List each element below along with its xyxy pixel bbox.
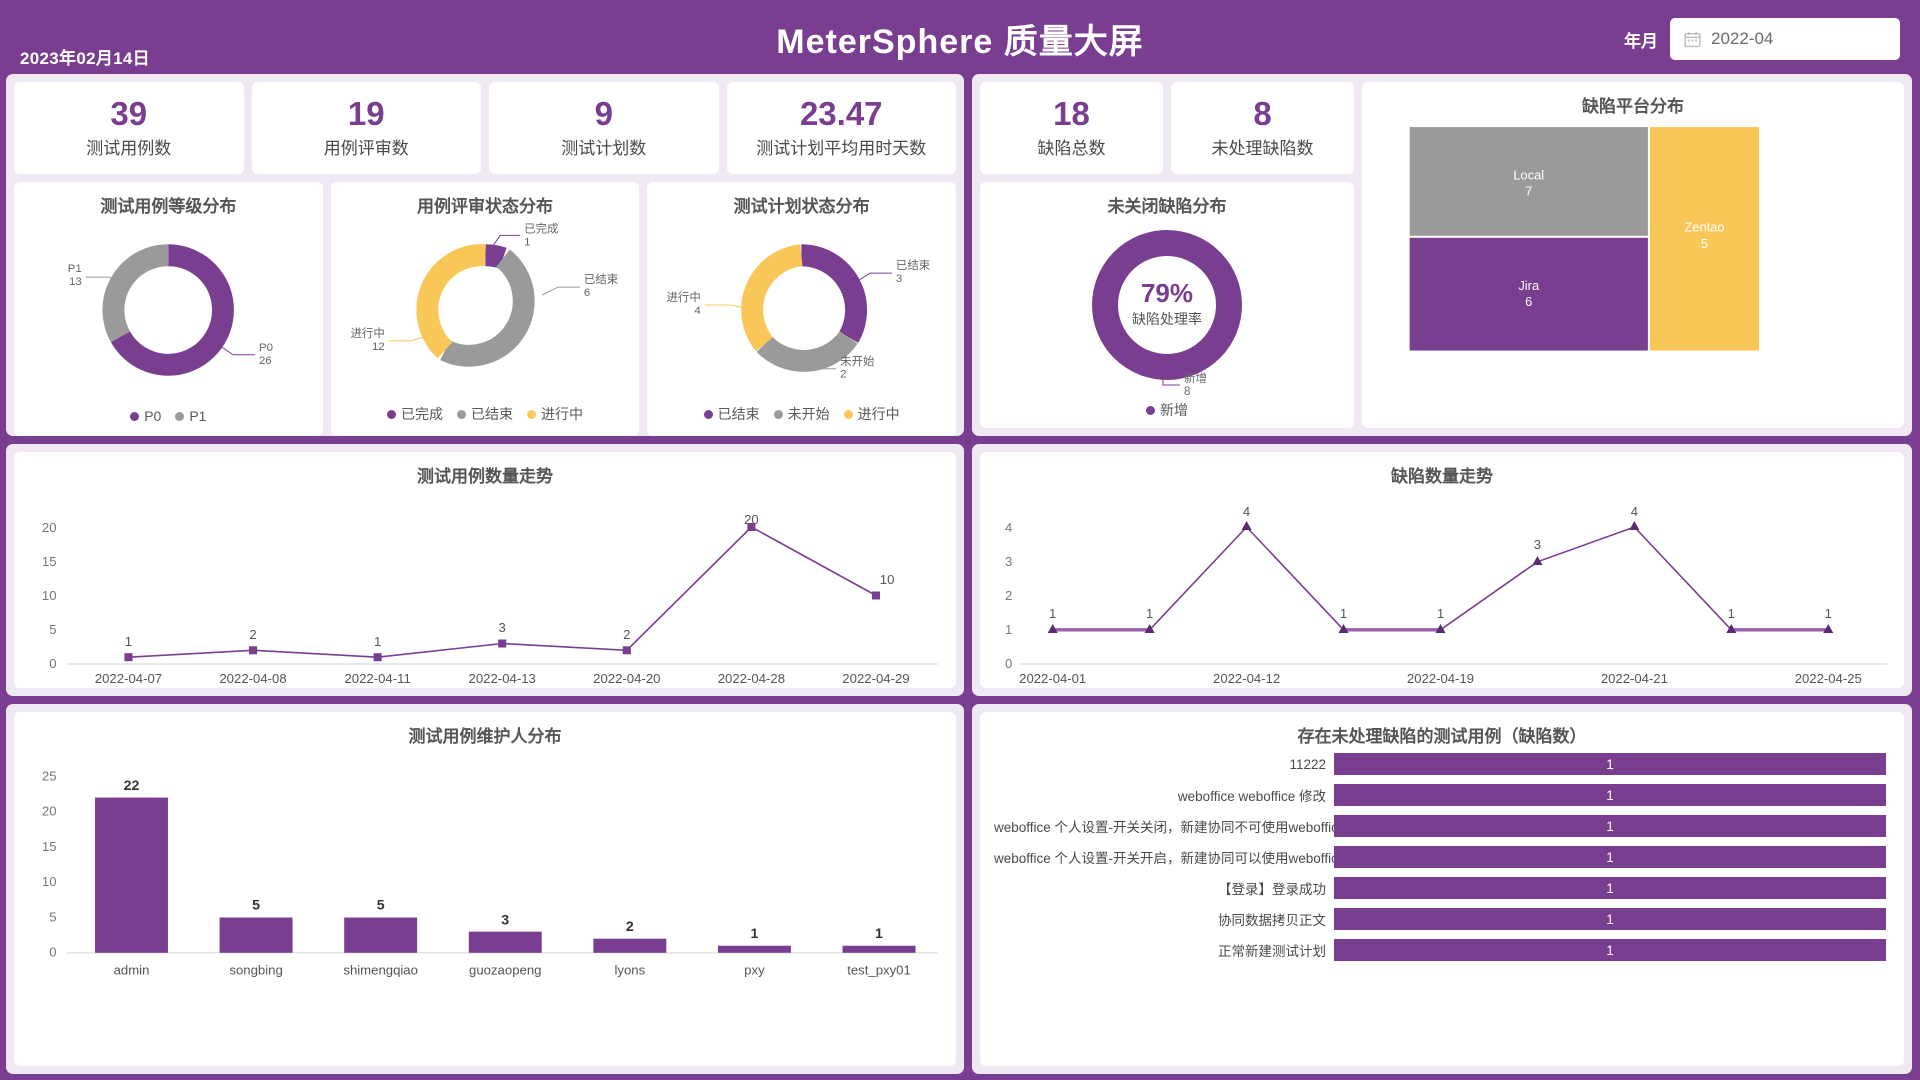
x-tick-label: guozaopeng [469, 963, 541, 978]
point-value: 1 [1728, 606, 1735, 621]
kpi-value: 9 [595, 97, 613, 130]
point-value: 1 [1146, 606, 1153, 621]
line-chart-graphic: 4 3 2 1 0 [980, 487, 1904, 687]
list-item[interactable]: 协同数据拷贝正文 1 [994, 906, 1886, 932]
y-tick-label: 10 [42, 874, 57, 889]
donut-slice-inprogress [752, 255, 801, 344]
callout-value: 8 [1184, 386, 1190, 398]
legend-dot-icon [130, 412, 139, 421]
kpi-label: 用例评审数 [324, 134, 409, 159]
point-value: 1 [1340, 606, 1347, 621]
bar-value: 22 [124, 777, 140, 793]
list-item-label: weboffice weboffice 修改 [994, 785, 1334, 805]
kpi-card-unhandled-defect[interactable]: 8 未处理缺陷数 [1171, 82, 1354, 174]
treemap-tile-label: Local [1513, 167, 1544, 182]
left-top-panel: 39 测试用例数 19 用例评审数 9 测试计划数 23.47 测试计划平均用时… [6, 74, 964, 436]
chart-review-status-donut[interactable]: 用例评审状态分布 [331, 182, 640, 436]
donut-slice-inprogress [427, 255, 485, 350]
bar-value: 1 [875, 925, 883, 941]
callout-label: 新增 [1184, 371, 1207, 385]
x-tick-label: 2022-04-01 [1019, 671, 1086, 686]
callout-label: P1 [68, 263, 82, 275]
y-tick-label: 15 [42, 554, 57, 569]
callout-label: 已完成 [524, 221, 558, 235]
chart-title: 缺陷数量走势 [980, 452, 1904, 487]
y-tick-label: 25 [42, 769, 57, 784]
callout-value: 12 [372, 341, 385, 353]
donut-slice-ended [802, 255, 857, 337]
callout-label: 未开始 [841, 354, 876, 368]
left-donut-row: 测试用例等级分布 P1 13 [14, 182, 956, 436]
right-column: 18 缺陷总数 8 未处理缺陷数 未关闭缺陷分布 [968, 74, 1912, 1074]
right-line-panel: 缺陷数量走势 4 3 2 1 0 [972, 444, 1912, 696]
point-value: 10 [880, 572, 895, 587]
x-axis-labels: admin songbing shimengqiao guozaopeng ly… [114, 963, 911, 978]
list-item-bar: 1 [1334, 877, 1886, 899]
legend-dot-icon [704, 410, 713, 419]
chart-case-priority-donut[interactable]: 测试用例等级分布 P1 13 [14, 182, 323, 436]
legend-label: 新增 [1160, 400, 1188, 420]
x-tick-label: 2022-04-29 [842, 671, 909, 686]
left-line-panel: 测试用例数量走势 20 15 10 5 0 [6, 444, 964, 696]
kpi-label: 未处理缺陷数 [1212, 134, 1314, 159]
left-column: 39 测试用例数 19 用例评审数 9 测试计划数 23.47 测试计划平均用时… [6, 74, 968, 1074]
legend-item[interactable]: 已结束 [457, 404, 513, 424]
list-item[interactable]: 11222 1 [994, 751, 1886, 777]
callout-value: 3 [896, 273, 902, 285]
y-tick-label: 3 [1005, 554, 1012, 569]
donut-graphic: P1 13 P0 26 [14, 217, 323, 403]
point-value: 4 [1243, 504, 1250, 519]
chart-legend: 已完成 已结束 进行中 [331, 404, 640, 424]
dashboard-header: 2023年02月14日 MeterSphere 质量大屏 年月 2022-04 [0, 0, 1920, 74]
legend-item[interactable]: 已结束 [704, 404, 760, 424]
bar-value: 5 [252, 897, 260, 913]
legend-dot-icon [774, 410, 783, 419]
y-tick-label: 4 [1005, 520, 1012, 535]
legend-item[interactable]: 进行中 [844, 404, 900, 424]
year-month-value: 2022-04 [1711, 29, 1773, 49]
chart-legend: 已结束 未开始 进行中 [647, 404, 956, 424]
horizontal-bar-rows: 11222 1 weboffice weboffice 修改 1 [980, 747, 1904, 976]
defect-kpi-and-donut: 18 缺陷总数 8 未处理缺陷数 未关闭缺陷分布 [980, 82, 1354, 428]
chart-defect-platform-treemap[interactable]: 缺陷平台分布 Local 7 Jira 6 [1362, 82, 1904, 428]
chart-case-maintainer-bar[interactable]: 测试用例维护人分布 25 20 15 10 5 0 [14, 712, 956, 1066]
donut-slice-notstarted [765, 337, 849, 361]
list-item[interactable]: weboffice weboffice 修改 1 [994, 782, 1886, 808]
x-tick-label: lyons [614, 963, 645, 978]
y-tick-label: 1 [1005, 622, 1012, 637]
treemap-tile-label: Zentao [1684, 220, 1724, 235]
right-kpi-row: 18 缺陷总数 8 未处理缺陷数 [980, 82, 1354, 174]
point-value: 1 [1437, 606, 1444, 621]
legend-dot-icon [387, 410, 396, 419]
defect-platform-wrapper: 缺陷平台分布 Local 7 Jira 6 [1362, 82, 1904, 428]
list-item[interactable]: weboffice 个人设置-开关开启，新建协同可以使用weboffice 1 [994, 844, 1886, 870]
point-value: 20 [744, 512, 759, 527]
kpi-label: 测试用例数 [86, 134, 171, 159]
x-tick-label: 2022-04-07 [95, 671, 162, 686]
donut-slice-p1 [113, 255, 168, 337]
list-item-label: 【登录】登录成功 [994, 878, 1334, 898]
legend-label: 已结束 [718, 404, 760, 424]
chart-legend: P0 P1 [14, 408, 323, 424]
callout-value: 4 [695, 305, 702, 317]
chart-title: 存在未处理缺陷的测试用例（缺陷数） [980, 712, 1904, 747]
chart-title: 测试用例数量走势 [14, 452, 956, 487]
list-item-label: weboffice 个人设置-开关关闭，新建协同不可使用weboffice [994, 816, 1334, 836]
list-item-bar: 1 [1334, 784, 1886, 806]
legend-dot-icon [844, 410, 853, 419]
x-tick-label: 2022-04-20 [593, 671, 660, 686]
dashboard-body: 39 测试用例数 19 用例评审数 9 测试计划数 23.47 测试计划平均用时… [0, 74, 1920, 1080]
bar-chart-graphic: 25 20 15 10 5 0 [14, 747, 956, 992]
legend-label: 已完成 [401, 404, 443, 424]
callout-label: P0 [259, 342, 273, 354]
callout-value: 2 [841, 369, 847, 381]
chart-title: 用例评审状态分布 [331, 182, 640, 217]
chart-plan-status-donut[interactable]: 测试计划状态分布 已结束 3 [647, 182, 956, 436]
legend-label: 未开始 [788, 404, 830, 424]
donut-graphic: 已结束 3 未开始 2 进行中 4 [647, 217, 956, 403]
line-value-labels: 1 2 1 3 2 20 10 [125, 512, 895, 649]
chart-defect-count-trend[interactable]: 缺陷数量走势 4 3 2 1 0 [980, 452, 1904, 688]
x-tick-label: pxy [744, 963, 765, 978]
line-value-labels: 1 1 4 1 1 3 4 1 1 [1049, 504, 1832, 621]
chart-title: 未关闭缺陷分布 [980, 182, 1354, 217]
legend-label: P0 [144, 408, 161, 424]
list-item-value: 1 [1606, 819, 1614, 834]
x-axis-labels: 2022-04-07 2022-04-08 2022-04-11 2022-04… [95, 671, 910, 686]
callout-label: 已结束 [584, 273, 619, 286]
point-value: 1 [1049, 606, 1056, 621]
chart-title: 测试用例维护人分布 [14, 712, 956, 747]
list-item-label: 11222 [994, 757, 1334, 772]
y-tick-label: 5 [49, 910, 56, 925]
treemap-tile-value: 7 [1525, 183, 1532, 198]
x-tick-label: test_pxy01 [847, 963, 911, 978]
y-tick-label: 15 [42, 839, 57, 854]
kpi-value: 8 [1253, 97, 1271, 130]
legend-item[interactable]: 进行中 [527, 404, 583, 424]
list-item-bar: 1 [1334, 846, 1886, 868]
x-tick-label: 2022-04-11 [344, 671, 410, 686]
chart-unhandled-defect-cases[interactable]: 存在未处理缺陷的测试用例（缺陷数） 11222 1 weboffice webo… [980, 712, 1904, 1066]
point-value: 1 [125, 634, 132, 649]
list-item-label: weboffice 个人设置-开关开启，新建协同可以使用weboffice [994, 847, 1334, 867]
treemap-tile-label: Jira [1518, 278, 1540, 293]
callout-value: 1 [524, 236, 530, 248]
list-item-label: 正常新建测试计划 [994, 940, 1334, 960]
right-top-layout: 18 缺陷总数 8 未处理缺陷数 未关闭缺陷分布 [980, 82, 1904, 428]
point-value: 1 [374, 634, 381, 649]
right-top-panel: 18 缺陷总数 8 未处理缺陷数 未关闭缺陷分布 [972, 74, 1912, 436]
bar-value: 3 [501, 912, 509, 928]
legend-label: 进行中 [858, 404, 900, 424]
list-item-bar: 1 [1334, 815, 1886, 837]
kpi-card-case-count[interactable]: 39 测试用例数 [14, 82, 244, 174]
treemap-tile-value: 5 [1701, 236, 1708, 251]
line-series-path [128, 527, 876, 657]
x-tick-label: 2022-04-19 [1407, 671, 1474, 686]
x-tick-label: shimengqiao [343, 963, 418, 978]
legend-dot-icon [457, 410, 466, 419]
x-axis-labels: 2022-04-01 2022-04-12 2022-04-19 2022-04… [1019, 671, 1862, 686]
bar-value: 5 [377, 897, 385, 913]
year-month-picker[interactable]: 2022-04 [1670, 18, 1900, 60]
y-tick-label: 20 [42, 804, 57, 819]
left-kpi-row: 39 测试用例数 19 用例评审数 9 测试计划数 23.47 测试计划平均用时… [14, 82, 956, 174]
year-month-label: 年月 [1624, 27, 1658, 52]
chart-title: 测试用例等级分布 [14, 182, 323, 217]
x-tick-label: 2022-04-21 [1601, 671, 1668, 686]
list-item-value: 1 [1606, 788, 1614, 803]
callout-value: 13 [69, 276, 82, 288]
list-item-value: 1 [1606, 757, 1614, 772]
y-tick-label: 5 [49, 622, 56, 637]
calendar-icon [1684, 31, 1701, 48]
legend-label: 进行中 [541, 404, 583, 424]
chart-title: 测试计划状态分布 [647, 182, 956, 217]
list-item-label: 协同数据拷贝正文 [994, 909, 1334, 929]
donut-graphic: 79% 缺陷处理率 新增 8 [980, 217, 1354, 413]
list-item-bar: 1 [1334, 753, 1886, 775]
right-list-panel: 存在未处理缺陷的测试用例（缺陷数） 11222 1 weboffice webo… [972, 704, 1912, 1074]
x-tick-label: 2022-04-25 [1795, 671, 1862, 686]
donut-center-label: 缺陷处理率 [1132, 311, 1202, 327]
x-tick-label: 2022-04-08 [219, 671, 286, 686]
callout-label: 进行中 [667, 291, 701, 304]
bar-value: 1 [750, 925, 758, 941]
kpi-value: 39 [110, 97, 147, 130]
legend-label: 已结束 [471, 404, 513, 424]
list-item-value: 1 [1606, 943, 1614, 958]
list-item-value: 1 [1606, 912, 1614, 927]
point-value: 1 [1825, 606, 1832, 621]
bar-series [95, 798, 915, 953]
callout-label: 进行中 [350, 327, 384, 340]
y-tick-label: 0 [1005, 656, 1012, 671]
point-value: 3 [1534, 537, 1541, 552]
list-item-bar: 1 [1334, 908, 1886, 930]
point-value: 4 [1631, 504, 1638, 519]
donut-center-value: 79% [1141, 278, 1193, 308]
list-item-value: 1 [1606, 881, 1614, 896]
line-markers [124, 523, 880, 661]
x-tick-label: 2022-04-13 [469, 671, 536, 686]
y-tick-label: 0 [49, 656, 56, 671]
dashboard-screen: 2023年02月14日 MeterSphere 质量大屏 年月 2022-04 [0, 0, 1920, 1080]
kpi-card-defect-total[interactable]: 18 缺陷总数 [980, 82, 1163, 174]
callout-value: 26 [259, 355, 272, 367]
kpi-label: 测试计划平均用时天数 [756, 134, 926, 159]
callout-value: 6 [584, 287, 590, 299]
y-tick-label: 10 [42, 588, 57, 603]
chart-case-count-trend[interactable]: 测试用例数量走势 20 15 10 5 0 [14, 452, 956, 688]
list-item[interactable]: 正常新建测试计划 1 [994, 937, 1886, 963]
treemap-tile-value: 6 [1525, 294, 1532, 309]
kpi-card-review-count[interactable]: 19 用例评审数 [252, 82, 482, 174]
x-tick-label: 2022-04-12 [1213, 671, 1280, 686]
list-item-value: 1 [1606, 850, 1614, 865]
legend-dot-icon [527, 410, 536, 419]
left-bar-panel: 测试用例维护人分布 25 20 15 10 5 0 [6, 704, 964, 1074]
donut-graphic: 已完成 1 已结束 6 进行中 12 [331, 217, 640, 403]
bar-value-labels: 22 5 5 3 2 1 1 [124, 777, 884, 941]
y-tick-label: 2 [1005, 588, 1012, 603]
kpi-value: 23.47 [800, 97, 883, 130]
treemap-graphic: Local 7 Jira 6 Zentao 5 [1362, 117, 1904, 419]
x-tick-label: admin [114, 963, 150, 978]
x-tick-label: 2022-04-28 [718, 671, 785, 686]
legend-item[interactable]: 新增 [1146, 400, 1188, 420]
point-value: 3 [499, 620, 506, 635]
kpi-value: 19 [348, 97, 385, 130]
y-tick-label: 20 [42, 520, 57, 535]
kpi-label: 测试计划数 [561, 134, 646, 159]
y-tick-label: 0 [49, 945, 56, 960]
line-chart-graphic: 20 15 10 5 0 [14, 487, 956, 687]
chart-unclosed-defect-donut[interactable]: 未关闭缺陷分布 79% 缺陷处理率 新增 8 [980, 182, 1354, 428]
point-value: 2 [249, 627, 256, 642]
chart-title: 缺陷平台分布 [1362, 82, 1904, 117]
kpi-label: 缺陷总数 [1038, 134, 1106, 159]
legend-dot-icon [175, 412, 184, 421]
kpi-card-plan-avg-days[interactable]: 23.47 测试计划平均用时天数 [727, 82, 957, 174]
legend-item[interactable]: P0 [130, 408, 161, 424]
legend-item[interactable]: 已完成 [387, 404, 443, 424]
kpi-value: 18 [1053, 97, 1090, 130]
list-item[interactable]: weboffice 个人设置-开关关闭，新建协同不可使用weboffice 1 [994, 813, 1886, 839]
chart-legend: 新增 [980, 400, 1354, 420]
list-item[interactable]: 【登录】登录成功 1 [994, 875, 1886, 901]
callout-label: 已结束 [896, 259, 931, 272]
point-value: 2 [623, 627, 630, 642]
kpi-card-plan-count[interactable]: 9 测试计划数 [489, 82, 719, 174]
donut-slice-done [485, 255, 503, 258]
legend-label: P1 [189, 408, 206, 424]
x-tick-label: songbing [229, 963, 282, 978]
legend-item[interactable]: P1 [175, 408, 206, 424]
bar-value: 2 [626, 918, 634, 934]
legend-dot-icon [1146, 406, 1155, 415]
list-item-bar: 1 [1334, 939, 1886, 961]
legend-item[interactable]: 未开始 [774, 404, 830, 424]
header-controls: 年月 2022-04 [1624, 18, 1900, 60]
